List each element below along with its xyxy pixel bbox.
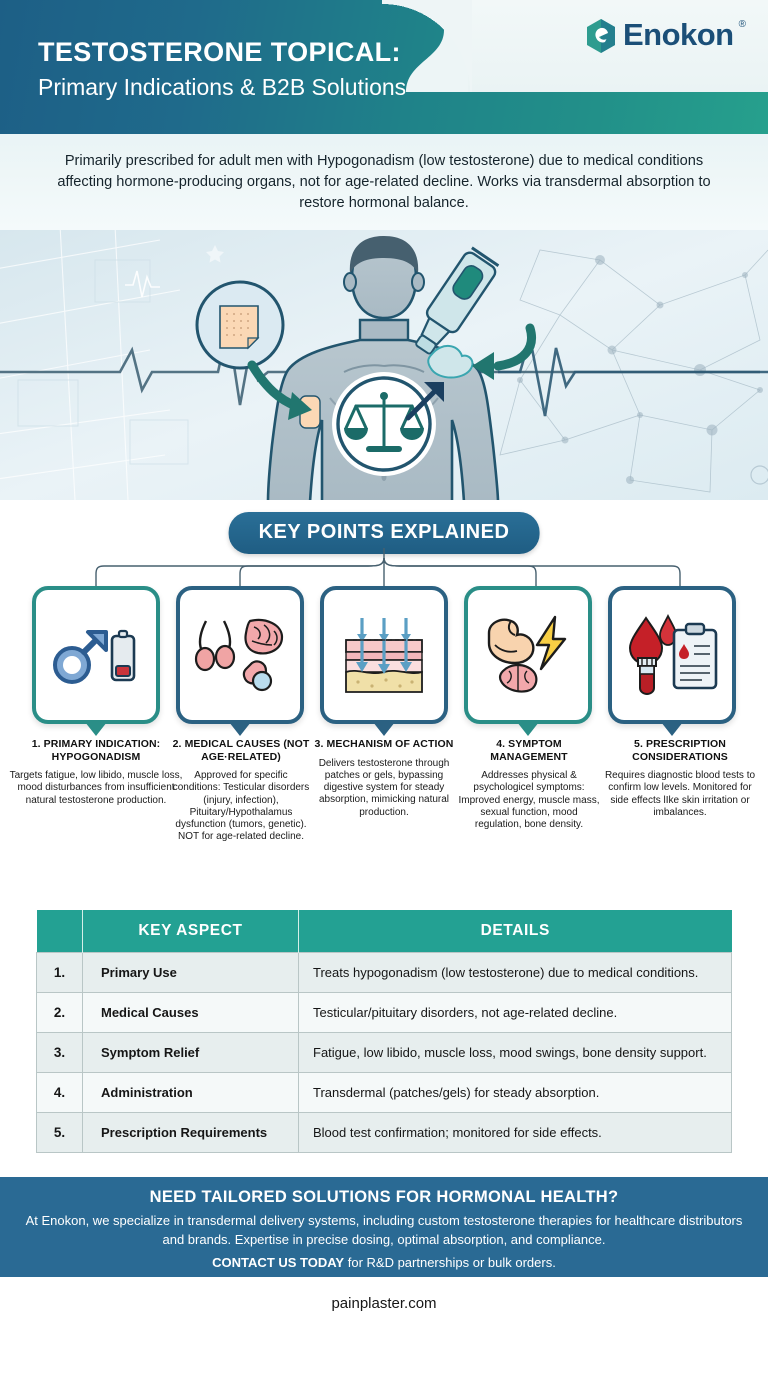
row-number: 1. [37, 953, 83, 993]
hero-illustration [0, 230, 768, 500]
row-aspect: Primary Use [83, 953, 299, 993]
header-titles: TESTOSTERONE TOPICAL: Primary Indication… [38, 36, 406, 102]
caption-1-heading: 1. PRIMARY INDICATION: HYPOGONADISM [6, 738, 186, 763]
row-number: 2. [37, 993, 83, 1033]
row-number: 4. [37, 1073, 83, 1113]
brand-logo: Enokon ® [584, 18, 746, 54]
card-pointer [517, 722, 539, 736]
table-head: KEY ASPECT DETAILS [37, 910, 732, 953]
summary-table-section: KEY ASPECT DETAILS 1. Primary Use Treats… [0, 910, 768, 1153]
intro-section: Primarily prescribed for adult men with … [0, 134, 768, 230]
testes-brain-pituitary-icon [192, 615, 288, 695]
connector-tree [0, 548, 768, 590]
caption-3-body: Delivers testosterone through patches or… [314, 758, 454, 819]
key-point-card-1[interactable] [32, 586, 160, 724]
row-aspect: Symptom Relief [83, 1033, 299, 1073]
caption-1-body: Targets fatigue, low libido, muscle loss… [6, 770, 186, 807]
caption-4-body: Addresses physical & psychologicel sympt… [458, 770, 600, 831]
card-pointer [373, 722, 395, 736]
cta-section: NEED TAILORED SOLUTIONS FOR HORMONAL HEA… [0, 1177, 768, 1277]
card-pointer [85, 722, 107, 736]
row-number: 5. [37, 1113, 83, 1153]
cta-action: CONTACT US TODAY for R&D partnerships or… [22, 1254, 746, 1273]
caption-4: 4. SYMPTOM MANAGEMENT Addresses physical… [458, 738, 600, 831]
page-subtitle: Primary Indications & B2B Solutions [38, 72, 406, 102]
card-pointer [229, 722, 251, 736]
table-header-details: DETAILS [299, 910, 732, 953]
page-title: TESTOSTERONE TOPICAL: [38, 36, 406, 68]
summary-table: KEY ASPECT DETAILS 1. Primary Use Treats… [36, 910, 732, 1153]
hero-graphic [0, 230, 768, 500]
logo-wordmark: Enokon [623, 18, 734, 52]
row-aspect: Administration [83, 1073, 299, 1113]
row-aspect: Medical Causes [83, 993, 299, 1033]
caption-5-body: Requires diagnostic blood tests to confi… [600, 770, 760, 819]
row-details: Testicular/pituitary disorders, not age-… [299, 993, 732, 1033]
page-header: Enokon ® TESTOSTERONE TOPICAL: Primary I… [0, 0, 768, 134]
male-symbol-low-battery-icon [50, 618, 142, 692]
row-details: Fatigue, low libido, muscle loss, mood s… [299, 1033, 732, 1073]
bicep-brain-energy-icon [481, 615, 575, 695]
enokon-hexagon-e-icon [584, 18, 618, 54]
cta-action-bold[interactable]: CONTACT US TODAY [212, 1255, 344, 1270]
blood-drop-test-clipboard-icon [624, 614, 720, 696]
caption-2: 2. MEDICAL CAUSES (NOT AGE·RELATED) Appr… [170, 738, 312, 844]
row-number: 3. [37, 1033, 83, 1073]
registered-trademark-icon: ® [739, 19, 746, 31]
key-points-section: KEY POINTS EXPLAINED [0, 500, 768, 910]
caption-1: 1. PRIMARY INDICATION: HYPOGONADISM Targ… [6, 738, 186, 807]
caption-3: 3. MECHANISM OF ACTION Delivers testoste… [314, 738, 454, 819]
page-footer: painplaster.com [0, 1277, 768, 1329]
caption-2-body: Approved for specific conditions: Testic… [170, 770, 312, 844]
skin-layers-absorption-icon [336, 614, 432, 696]
table-header-row: KEY ASPECT DETAILS [37, 910, 732, 953]
key-point-card-4[interactable] [464, 586, 592, 724]
intro-text: Primarily prescribed for adult men with … [44, 151, 724, 214]
table-body: 1. Primary Use Treats hypogonadism (low … [37, 953, 732, 1153]
table-row: 4. Administration Transdermal (patches/g… [37, 1073, 732, 1113]
caption-2-heading: 2. MEDICAL CAUSES (NOT AGE·RELATED) [170, 738, 312, 763]
table-header-number [37, 910, 83, 953]
table-row: 3. Symptom Relief Fatigue, low libido, m… [37, 1033, 732, 1073]
cta-heading: NEED TAILORED SOLUTIONS FOR HORMONAL HEA… [22, 1188, 746, 1207]
table-header-key-aspect: KEY ASPECT [83, 910, 299, 953]
cta-body: At Enokon, we specialize in transdermal … [22, 1212, 746, 1249]
row-details: Blood test confirmation; monitored for s… [299, 1113, 732, 1153]
table-row: 2. Medical Causes Testicular/pituitary d… [37, 993, 732, 1033]
website-url[interactable]: painplaster.com [331, 1295, 436, 1312]
row-aspect: Prescription Requirements [83, 1113, 299, 1153]
table-row: 5. Prescription Requirements Blood test … [37, 1113, 732, 1153]
caption-3-heading: 3. MECHANISM OF ACTION [314, 738, 454, 751]
caption-4-heading: 4. SYMPTOM MANAGEMENT [458, 738, 600, 763]
caption-5: 5. PRESCRIPTION CONSIDERATIONS Requires … [600, 738, 760, 819]
row-details: Treats hypogonadism (low testosterone) d… [299, 953, 732, 993]
card-pointer [661, 722, 683, 736]
key-point-card-2[interactable] [176, 586, 304, 724]
cta-action-rest: for R&D partnerships or bulk orders. [344, 1255, 556, 1270]
key-point-card-3[interactable] [320, 586, 448, 724]
caption-5-heading: 5. PRESCRIPTION CONSIDERATIONS [600, 738, 760, 763]
key-point-card-5[interactable] [608, 586, 736, 724]
key-points-cards [0, 586, 768, 726]
row-details: Transdermal (patches/gels) for steady ab… [299, 1073, 732, 1113]
table-row: 1. Primary Use Treats hypogonadism (low … [37, 953, 732, 993]
